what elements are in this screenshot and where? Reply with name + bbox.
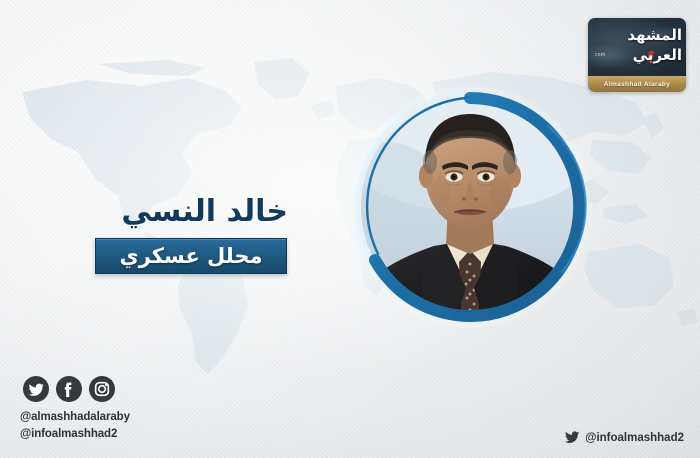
handle-primary: @almashhadalaraby (20, 409, 130, 426)
twitter-icon (565, 430, 580, 445)
channel-logo: المشهد com العربي Almashhad Alaraby (588, 18, 686, 92)
guest-card: المشهد com العربي Almashhad Alaraby (0, 0, 700, 458)
logo-latin-label: Almashhad Alaraby (604, 81, 670, 88)
facebook-icon[interactable] (56, 376, 82, 402)
instagram-icon[interactable] (89, 376, 115, 402)
logo-arabic-line-1: المشهد (588, 28, 682, 43)
twitter-icon[interactable] (23, 376, 49, 402)
handle-secondary-label: @infoalmashhad2 (20, 426, 117, 443)
guest-portrait (348, 82, 592, 332)
logo-latin-band: Almashhad Alaraby (588, 76, 686, 92)
guest-name: خالد النسي (0, 196, 288, 228)
social-handles: @almashhadalaraby @infoalmashhad2 (20, 409, 130, 442)
handle-primary-label: @almashhadalaraby (20, 409, 130, 426)
guest-title-label: محلل عسكري (119, 246, 262, 267)
guest-title-banner: محلل عسكري (95, 238, 287, 274)
footer-handle-label: @infoalmashhad2 (585, 432, 684, 444)
social-icon-row (23, 376, 115, 402)
logo-arabic-line-2: العربي (588, 48, 682, 63)
footer-twitter-handle: @infoalmashhad2 (565, 430, 684, 445)
handle-secondary: @infoalmashhad2 (20, 426, 130, 443)
